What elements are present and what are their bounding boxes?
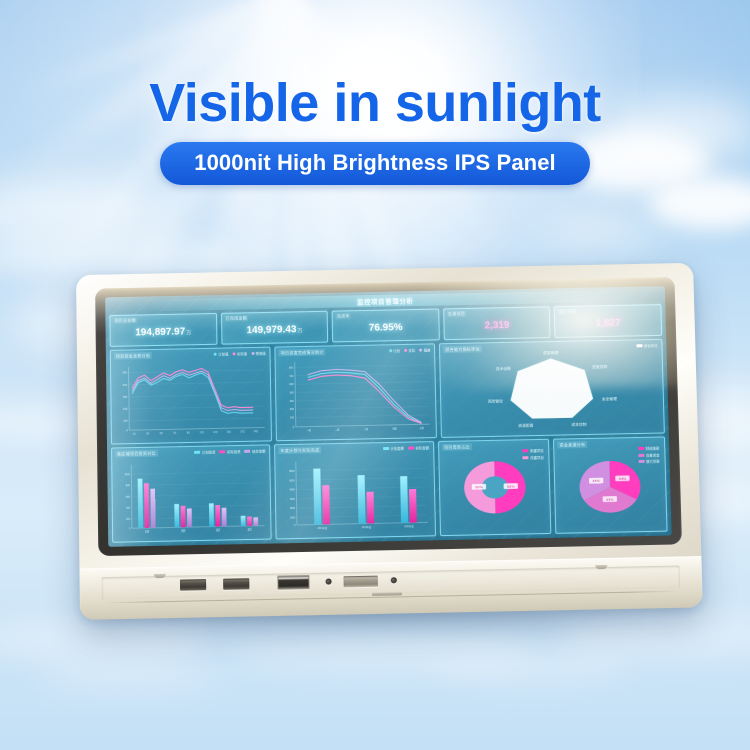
dashboard-title: 监控项目管理分析: [357, 295, 414, 306]
svg-text:800: 800: [126, 484, 131, 487]
usb-port-2[interactable]: [223, 578, 249, 590]
radar-chart-svg: 质量管理 进度控制 安全管理 成本控制 资源配置 风险管控 技术创新: [440, 340, 664, 437]
svg-text:南区: 南区: [216, 528, 221, 532]
svg-text:0: 0: [293, 426, 295, 429]
kpi-label: 完成率: [336, 313, 351, 319]
kpi-card-completed-amount[interactable]: 已完成金额 149,979.43万: [221, 311, 329, 345]
svg-text:5月: 5月: [160, 431, 163, 435]
bar-chart-paired-svg: 800060004000 300020001000 0: [275, 442, 434, 538]
donut-chart-svg: 50% 50%: [439, 440, 551, 535]
svg-text:100: 100: [123, 419, 128, 423]
svg-text:进度控制: 进度控制: [592, 364, 608, 369]
panel-line-chart-decline[interactable]: 项目进度完成情况统计 计划 实际 偏差: [275, 343, 438, 441]
svg-text:成本控制: 成本控制: [572, 422, 588, 427]
svg-text:安全管理: 安全管理: [602, 396, 618, 401]
kpi-value: 1,827: [596, 318, 621, 329]
kpi-value: 76.95%: [369, 322, 403, 334]
svg-text:800: 800: [289, 366, 294, 369]
svg-text:400: 400: [126, 507, 131, 510]
svg-text:6000: 6000: [290, 479, 296, 482]
kpi-label: 在建项目: [447, 311, 466, 317]
svg-text:9月: 9月: [187, 430, 190, 434]
kpi-card-completion-rate[interactable]: 完成率 76.95%: [332, 309, 440, 343]
panel-radar-chart[interactable]: 综合能力指标评估 综合评分 质量管理 进度: [439, 339, 665, 438]
kpi-card-total-amount[interactable]: 项目总金额 194,897.97万: [109, 313, 217, 347]
svg-text:200: 200: [290, 416, 295, 419]
svg-text:东区: 东区: [145, 529, 150, 533]
svg-text:1000: 1000: [124, 473, 130, 476]
panel-donut-chart[interactable]: 项目类型占比 新建项目 改建项目 50%: [438, 439, 552, 536]
page-title: Visible in sunlight: [0, 72, 750, 134]
svg-text:1000: 1000: [290, 516, 296, 519]
svg-text:2022年度: 2022年度: [362, 525, 372, 530]
screw-right: [391, 577, 397, 583]
svg-text:质量管理: 质量管理: [543, 350, 559, 355]
svg-text:600: 600: [126, 495, 131, 498]
kpi-label: 项目总金额: [113, 318, 136, 324]
svg-text:五期: 五期: [420, 426, 425, 430]
usb-port-3[interactable]: [277, 575, 309, 590]
subtitle-badge-wrap: 1000nit High Brightness IPS Panel: [0, 142, 750, 185]
kpi-label: 已完成金额: [225, 315, 249, 321]
svg-text:西区: 西区: [181, 529, 186, 533]
kpi-value: 149,979.43万: [246, 324, 302, 336]
svg-text:北区: 北区: [247, 527, 252, 531]
svg-text:15月: 15月: [227, 430, 231, 434]
svg-text:400: 400: [123, 382, 128, 386]
kpi-value: 194,897.97万: [135, 326, 191, 338]
svg-text:600: 600: [290, 383, 295, 386]
industrial-panel-pc: 监控项目管理分析 项目总金额 194,897.97万 已完成金额 149,979…: [76, 263, 703, 620]
svg-text:200: 200: [126, 518, 131, 521]
svg-text:0: 0: [129, 527, 131, 530]
bar-chart-grouped-svg: 1000800600 4002000: [112, 445, 271, 541]
io-tab: [372, 592, 402, 596]
svg-text:500: 500: [290, 391, 295, 394]
svg-text:技术创新: 技术创新: [496, 366, 512, 371]
panel-bar-chart-paired[interactable]: 年度计划与实际完成 计划金额 实际金额: [274, 441, 435, 539]
svg-text:700: 700: [289, 375, 294, 378]
svg-text:二期: 二期: [335, 427, 340, 431]
kpi-card-finished-projects[interactable]: 竣工项目 1,827: [554, 304, 662, 338]
svg-text:17月: 17月: [240, 429, 244, 433]
svg-text:500: 500: [122, 370, 127, 374]
svg-text:200: 200: [123, 407, 128, 411]
usb-port-1[interactable]: [180, 579, 206, 591]
svg-text:资源配置: 资源配置: [519, 423, 535, 428]
svg-text:13月: 13月: [213, 430, 217, 434]
svg-text:风险管控: 风险管控: [488, 399, 504, 404]
panel-bar-chart-grouped[interactable]: 各区域项目投资对比 计划投资 实际投资 结余金额: [111, 444, 272, 542]
svg-text:1月: 1月: [133, 431, 136, 435]
svg-text:7月: 7月: [173, 431, 176, 435]
svg-text:0: 0: [126, 428, 128, 432]
line-chart-decline-svg: 800700600 500400300 2000 一期二期三期 四期五期: [276, 344, 437, 440]
panel-line-chart-trend[interactable]: 项目资金走势分析 计划值 实际值 预测值: [110, 347, 272, 445]
svg-text:33%: 33%: [593, 479, 601, 483]
pie-chart-svg: 34% 33% 33%: [554, 437, 666, 532]
chart-row-middle: 项目资金走势分析 计划值 实际值 预测值: [110, 339, 665, 445]
svg-text:2021年度: 2021年度: [318, 526, 328, 531]
svg-text:34%: 34%: [619, 477, 627, 481]
svg-text:2000: 2000: [290, 507, 296, 510]
svg-text:三期: 三期: [364, 427, 369, 431]
svg-text:400: 400: [290, 400, 295, 403]
svg-text:3月: 3月: [146, 431, 149, 435]
svg-text:33%: 33%: [606, 498, 614, 502]
svg-text:0: 0: [294, 524, 296, 527]
kpi-label: 竣工项目: [558, 309, 577, 315]
chart-row-bottom: 各区域项目投资对比 计划投资 实际投资 结余金额: [111, 436, 668, 542]
svg-text:8000: 8000: [290, 470, 296, 473]
svg-text:3000: 3000: [290, 498, 296, 501]
svg-text:4000: 4000: [290, 488, 296, 491]
svg-text:11月: 11月: [200, 430, 204, 434]
svg-text:一期: 一期: [307, 428, 312, 432]
svg-text:四期: 四期: [393, 426, 398, 430]
lcd-screen[interactable]: 监控项目管理分析 项目总金额 194,897.97万 已完成金额 149,979…: [105, 286, 672, 547]
screw-left: [326, 579, 332, 585]
svg-text:2023年度: 2023年度: [405, 524, 415, 529]
display-bezel: 监控项目管理分析 项目总金额 194,897.97万 已完成金额 149,979…: [95, 277, 682, 556]
status-badge: 1000nit High Brightness IPS Panel: [160, 142, 590, 185]
svg-text:300: 300: [290, 408, 295, 411]
svg-text:19月: 19月: [254, 429, 258, 433]
vga-port[interactable]: [344, 576, 378, 588]
panel-pie-chart[interactable]: 资金来源分布 财政拨款 自筹资金 银行贷款 34%: [553, 436, 667, 533]
kpi-value: 2,319: [484, 320, 509, 331]
kpi-card-ongoing-projects[interactable]: 在建项目 2,319: [443, 306, 551, 340]
line-chart-trend-svg: 500 400 300 200 100 0 1月3月5月 7月9月11月 13月…: [111, 348, 271, 444]
svg-text:50%: 50%: [507, 485, 515, 489]
svg-text:50%: 50%: [475, 485, 483, 489]
svg-text:300: 300: [123, 395, 128, 399]
